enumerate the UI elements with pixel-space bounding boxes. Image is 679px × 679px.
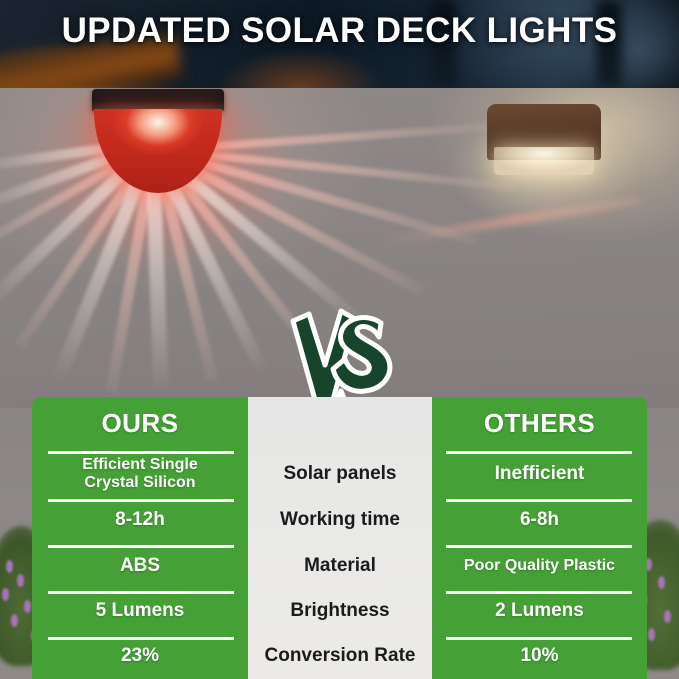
- cell-feature-brightness: Brightness: [248, 588, 432, 633]
- table-row: 23% Conversion Rate 10%: [32, 634, 647, 679]
- page-title: UPDATED SOLAR DECK LIGHTS: [0, 11, 679, 51]
- table-row: 5 Lumens Brightness 2 Lumens: [32, 588, 647, 633]
- lavender-bloom: [17, 574, 24, 587]
- cell-ours-solar-panels: Efficient Single Crystal Silicon: [32, 450, 248, 497]
- left-lamp-solar-panel: [92, 89, 224, 111]
- cell-others-brightness: 2 Lumens: [432, 588, 647, 633]
- lavender-bloom: [664, 610, 671, 623]
- lavender-bloom: [658, 576, 665, 589]
- cell-others-conversion-rate: 10%: [432, 634, 647, 679]
- cell-ours-conversion-rate: 23%: [32, 634, 248, 679]
- product-comparison-infographic: UPDATED SOLAR DECK LIGHTS OURS OTHERS Ef…: [0, 0, 679, 679]
- cell-feature-solar-panels: Solar panels: [248, 450, 432, 497]
- right-lamp-lens: [494, 147, 594, 175]
- row-divider: [446, 499, 632, 502]
- row-divider: [446, 545, 632, 548]
- row-divider: [446, 451, 632, 454]
- cell-others-material: Poor Quality Plastic: [432, 543, 647, 588]
- row-divider: [446, 591, 632, 594]
- lavender-bloom: [6, 560, 13, 573]
- cell-ours-solar-panels-line1: Efficient Single: [82, 456, 198, 474]
- row-divider: [48, 451, 234, 454]
- cell-feature-conversion-rate: Conversion Rate: [248, 634, 432, 679]
- cell-feature-material: Material: [248, 543, 432, 588]
- cell-ours-material: ABS: [32, 543, 248, 588]
- cell-others-solar-panels: Inefficient: [432, 450, 647, 497]
- row-divider: [446, 637, 632, 640]
- row-divider: [48, 591, 234, 594]
- cell-feature-working-time: Working time: [248, 498, 432, 543]
- lavender-bloom: [2, 588, 9, 601]
- lavender-bloom: [11, 614, 18, 627]
- cell-others-working-time: 6-8h: [432, 498, 647, 543]
- lavender-bloom: [648, 628, 655, 641]
- lavender-bloom: [24, 600, 31, 613]
- cell-ours-brightness: 5 Lumens: [32, 588, 248, 633]
- header-ours: OURS: [32, 397, 248, 450]
- table-row: Efficient Single Crystal Silicon Solar p…: [32, 450, 647, 497]
- table-header-row: OURS OTHERS: [32, 397, 647, 450]
- row-divider: [48, 545, 234, 548]
- comparison-table: OURS OTHERS Efficient Single Crystal Sil…: [32, 397, 647, 679]
- row-divider: [48, 637, 234, 640]
- table-row: ABS Material Poor Quality Plastic: [32, 543, 647, 588]
- header-feature: [248, 397, 432, 450]
- cell-ours-working-time: 8-12h: [32, 498, 248, 543]
- cell-ours-solar-panels-line2: Crystal Silicon: [82, 474, 198, 492]
- row-divider: [48, 499, 234, 502]
- table-row: 8-12h Working time 6-8h: [32, 498, 647, 543]
- header-others: OTHERS: [432, 397, 647, 450]
